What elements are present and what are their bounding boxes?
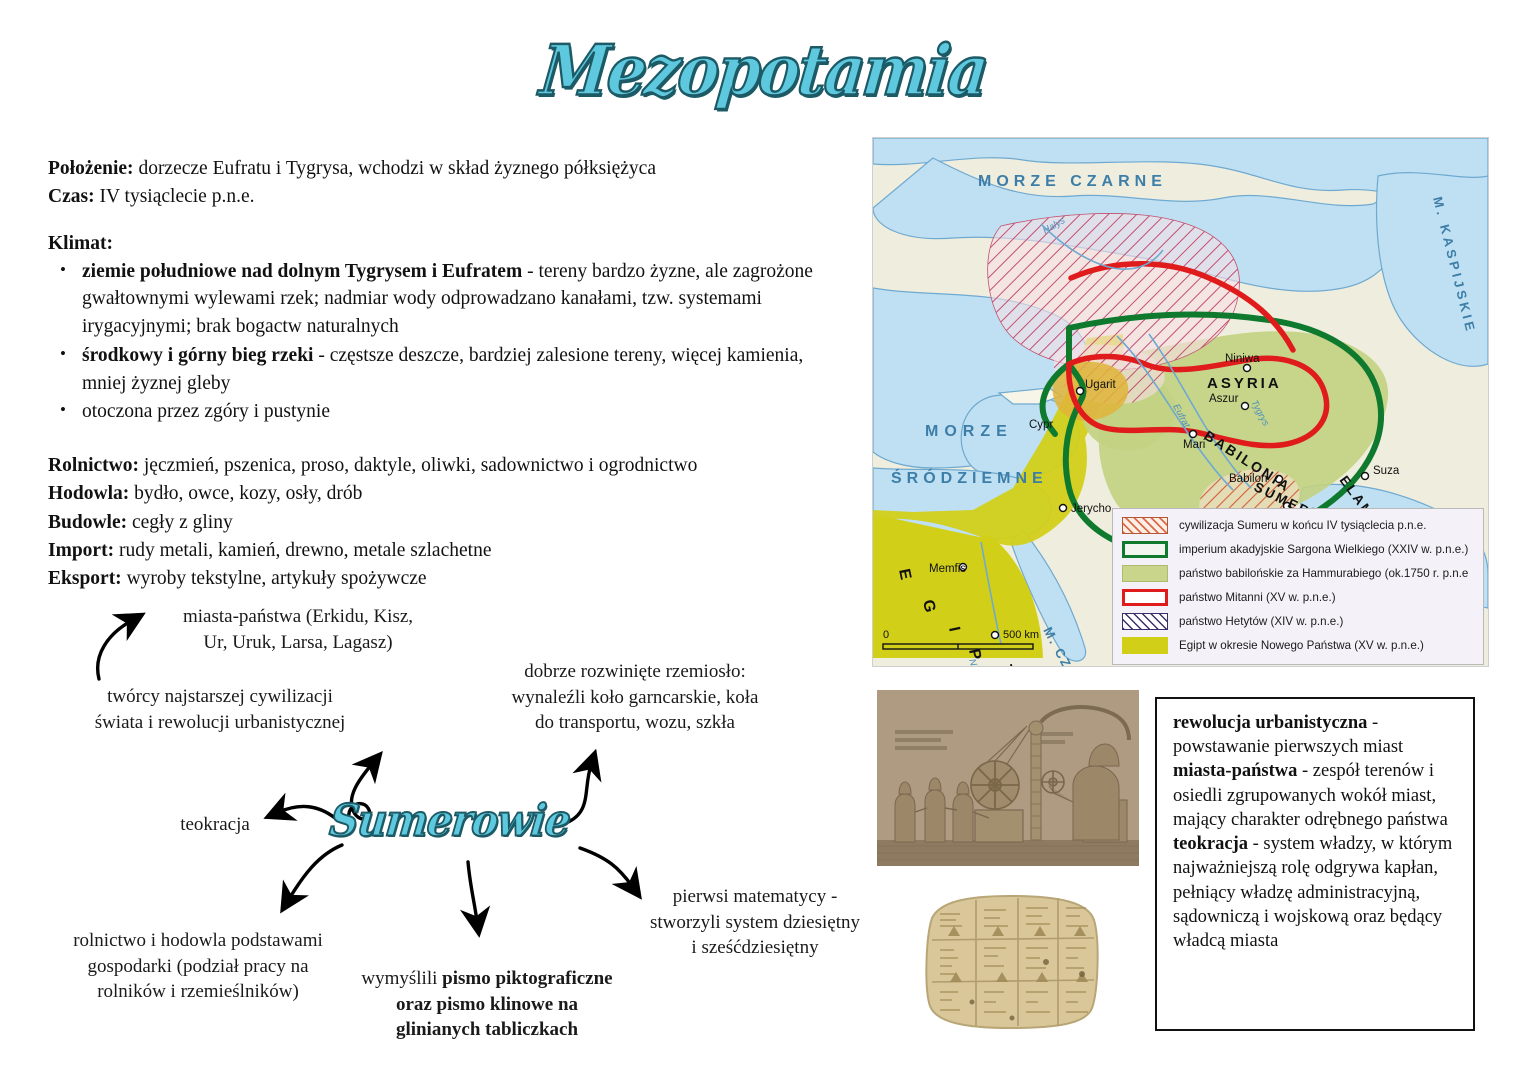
sea-label: ŚRÓDZIEMNE xyxy=(891,468,1048,487)
legend-label: imperium akadyjskie Sargona Wielkiego (X… xyxy=(1179,543,1468,556)
node-line: świata i rewolucji urbanistycznej xyxy=(60,710,380,736)
region-label: ASYRIA xyxy=(1207,375,1282,392)
scale-value: 500 km xyxy=(1003,629,1039,641)
node-line: wymyślili pismo piktograficzne xyxy=(352,966,622,992)
legend-label: państwo Mitanni (XV w. p.n.e.) xyxy=(1179,591,1336,604)
legend-key-babilon-fill xyxy=(1122,565,1168,582)
node-line: dobrze rozwinięte rzemiosło: xyxy=(470,659,800,685)
city-label: Cypr xyxy=(1029,419,1053,431)
legend-label: cywilizacja Sumeru w końcu IV tysiącleci… xyxy=(1179,519,1426,532)
node-line: wynaleźli koło garncarskie, koła xyxy=(470,685,800,711)
sea-label: MORZE xyxy=(925,423,1013,440)
node-line: twórcy najstarszej cywilizacji xyxy=(60,684,380,710)
mindmap-center-sumerowie: Sumerowie xyxy=(327,795,572,847)
notes-page: Mezopotamia Położenie: dorzecze Eufratu … xyxy=(0,0,1527,1080)
node-line: stworzyli system dziesiętny xyxy=(620,910,890,936)
definition-term: teokracja xyxy=(1173,834,1248,854)
city-label: Niniwa xyxy=(1225,353,1260,365)
legend-row: imperium akadyjskie Sargona Wielkiego (X… xyxy=(1113,537,1483,561)
legend-key-sumer-hatch xyxy=(1122,517,1168,534)
sea-label: MORZE CZARNE xyxy=(978,173,1167,190)
node-line: i sześćdziesiętny xyxy=(620,935,890,961)
node-line: gospodarki (podział pracy na xyxy=(38,954,358,980)
mindmap-node-teokracja: teokracja xyxy=(160,812,270,838)
definition-item: rewolucja urbanistyczna - powstawanie pi… xyxy=(1173,711,1459,759)
relief-graphic xyxy=(877,690,1139,866)
node-line: teokracja xyxy=(160,812,270,838)
legend-label: państwo Hetytów (XIV w. p.n.e.) xyxy=(1179,615,1343,628)
node-line: rolników i rzemieślników) xyxy=(38,979,358,1005)
node-line: pierwsi matematycy - xyxy=(620,884,890,910)
definition-item: teokracja - system władzy, w którym najw… xyxy=(1173,832,1459,953)
node-line: oraz pismo klinowe na xyxy=(352,992,622,1018)
mindmap-node-pismo: wymyślili pismo piktograficzne oraz pism… xyxy=(352,966,622,1043)
city-label: Babilon xyxy=(1229,473,1267,485)
city-label: Jerycho xyxy=(1071,503,1111,515)
legend-row: państwo babilońskie za Hammurabiego (ok.… xyxy=(1113,561,1483,585)
mindmap-node-tworcy: twórcy najstarszej cywilizacji świata i … xyxy=(60,684,380,735)
definition-term: miasta-państwa xyxy=(1173,761,1297,781)
tablet-graphic xyxy=(906,888,1118,1033)
definitions-box: rewolucja urbanistyczna - powstawanie pi… xyxy=(1155,697,1475,1031)
legend-label: Egipt w okresie Nowego Państwa (XV w. p.… xyxy=(1179,639,1424,652)
mindmap-node-matematycy: pierwsi matematycy - stworzyli system dz… xyxy=(620,884,890,961)
city-label: Memfis xyxy=(929,563,966,575)
legend-key-mitanni-outline xyxy=(1122,589,1168,606)
mindmap-node-rzemioslo: dobrze rozwinięte rzemiosło: wynaleźli k… xyxy=(470,659,800,736)
city-label: Ugarit xyxy=(1085,379,1116,391)
node-line: glinianych tabliczkach xyxy=(352,1017,622,1043)
legend-row: państwo Mitanni (XV w. p.n.e.) xyxy=(1113,585,1483,609)
legend-label: państwo babilońskie za Hammurabiego (ok.… xyxy=(1179,567,1468,580)
mindmap-node-rolnictwo: rolnictwo i hodowla podstawami gospodark… xyxy=(38,928,358,1005)
legend-row: Egipt w okresie Nowego Państwa (XV w. p.… xyxy=(1113,633,1483,657)
city-label: Aszur xyxy=(1209,393,1239,405)
city-label: Suza xyxy=(1373,465,1400,477)
legend-key-egipt-fill xyxy=(1122,637,1168,654)
legend-row: cywilizacja Sumeru w końcu IV tysiącleci… xyxy=(1113,513,1483,537)
sumerian-relief-photo xyxy=(877,690,1139,866)
city-label: Mari xyxy=(1183,439,1205,451)
mindmap-node-miasta-panstwa: miasta-państwa (Erkidu, Kisz, Ur, Uruk, … xyxy=(148,604,448,655)
legend-key-akad-outline xyxy=(1122,541,1168,558)
map-legend: cywilizacja Sumeru w końcu IV tysiącleci… xyxy=(1112,508,1484,665)
clay-tablet-photo xyxy=(906,888,1118,1033)
legend-key-hetyci-hatch xyxy=(1122,613,1168,630)
scale-zero: 0 xyxy=(883,629,889,641)
node-line: Ur, Uruk, Larsa, Lagasz) xyxy=(148,630,448,656)
node-line: miasta-państwa (Erkidu, Kisz, xyxy=(148,604,448,630)
definition-item: miasta-państwa - zespół terenów i osiedl… xyxy=(1173,759,1459,832)
node-line: rolnictwo i hodowla podstawami xyxy=(38,928,358,954)
legend-row: państwo Hetytów (XIV w. p.n.e.) xyxy=(1113,609,1483,633)
definition-term: rewolucja urbanistyczna xyxy=(1173,713,1367,733)
node-line: do transportu, wozu, szkła xyxy=(470,710,800,736)
